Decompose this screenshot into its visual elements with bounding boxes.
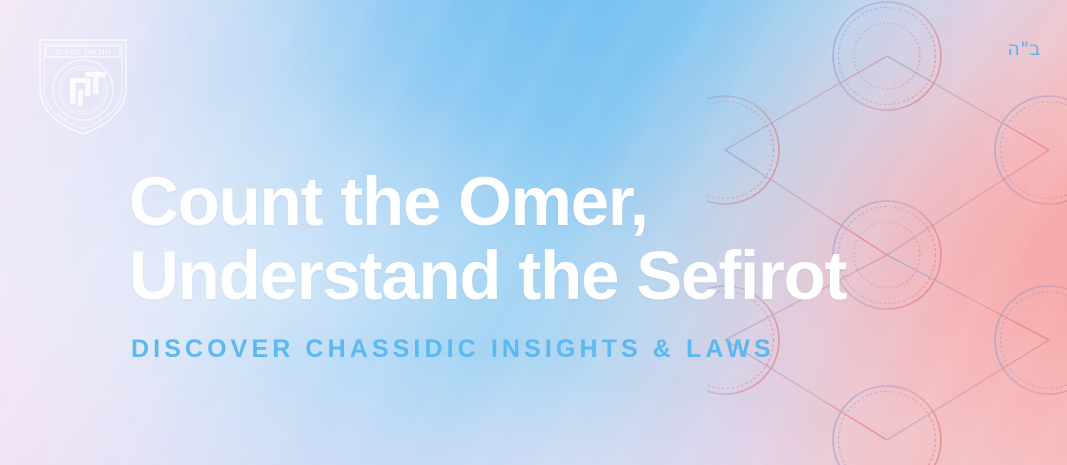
- bh-mark: ב"ה: [1007, 40, 1041, 59]
- promotional-banner: הוצאת ספרים ב"ה Count the Omer, Understa…: [0, 0, 1067, 465]
- headline-line-2: Understand the Sefirot: [129, 242, 1009, 310]
- publisher-logo: הוצאת ספרים: [30, 26, 136, 138]
- logo-banner-text: הוצאת ספרים: [55, 47, 111, 58]
- headline-line-1: Count the Omer,: [129, 168, 1009, 236]
- subheadline: DISCOVER CHASSIDIC INSIGHTS & LAWS: [131, 337, 1009, 362]
- headline-block: Count the Omer, Understand the Sefirot D…: [129, 168, 1009, 362]
